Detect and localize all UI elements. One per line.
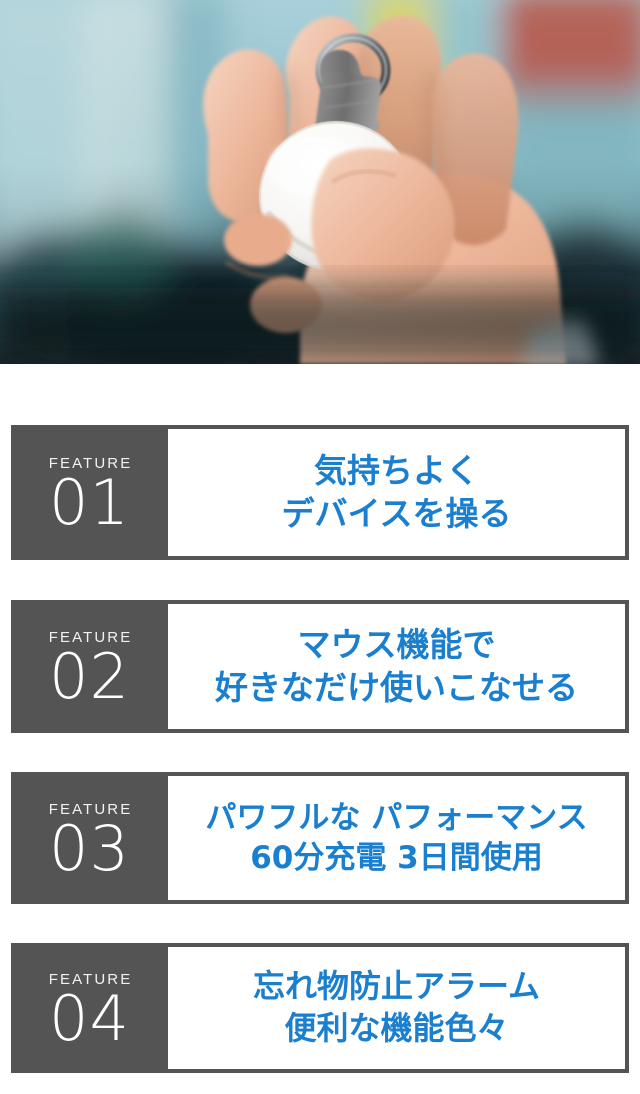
feature-badge-02: FEATURE 02 [11,600,168,733]
feature-row[interactable]: FEATURE 02 マウス機能で 好きなだけ使いこなせる [11,600,629,733]
feature-text-line: 60分充電 3日間使用 [250,838,543,878]
feature-badge-03: FEATURE 03 [11,772,168,904]
feature-text-line: 便利な機能色々 [284,1008,508,1050]
feature-badge-01: FEATURE 01 [11,425,168,560]
feature-text-panel: 気持ちよく デバイスを操る [168,429,625,556]
feature-text-panel: マウス機能で 好きなだけ使いこなせる [168,604,625,729]
product-feature-page: FEATURE 01 気持ちよく デバイスを操る FEATURE 02 マウス機… [0,0,640,1094]
feature-number: 03 [49,820,130,879]
feature-text-line: マウス機能で [298,624,496,667]
feature-number: 04 [49,990,130,1049]
hero-product-photo [0,0,640,364]
feature-text-panel: パワフルな パフォーマンス 60分充電 3日間使用 [168,776,625,900]
feature-text-panel: 忘れ物防止アラーム 便利な機能色々 [168,947,625,1069]
feature-row[interactable]: FEATURE 03 パワフルな パフォーマンス 60分充電 3日間使用 [11,772,629,904]
feature-text-line: 忘れ物防止アラーム [253,966,540,1008]
feature-number: 01 [49,474,130,533]
feature-row[interactable]: FEATURE 04 忘れ物防止アラーム 便利な機能色々 [11,943,629,1073]
feature-text-line: 好きなだけ使いこなせる [215,667,578,710]
hero-photo-illustration [0,0,640,364]
feature-number: 02 [49,648,130,707]
feature-text-line: デバイスを操る [281,493,511,536]
feature-badge-04: FEATURE 04 [11,943,168,1073]
feature-text-line: 気持ちよく [314,450,479,493]
feature-text-line: パワフルな パフォーマンス [205,798,587,838]
feature-row[interactable]: FEATURE 01 気持ちよく デバイスを操る [11,425,629,560]
